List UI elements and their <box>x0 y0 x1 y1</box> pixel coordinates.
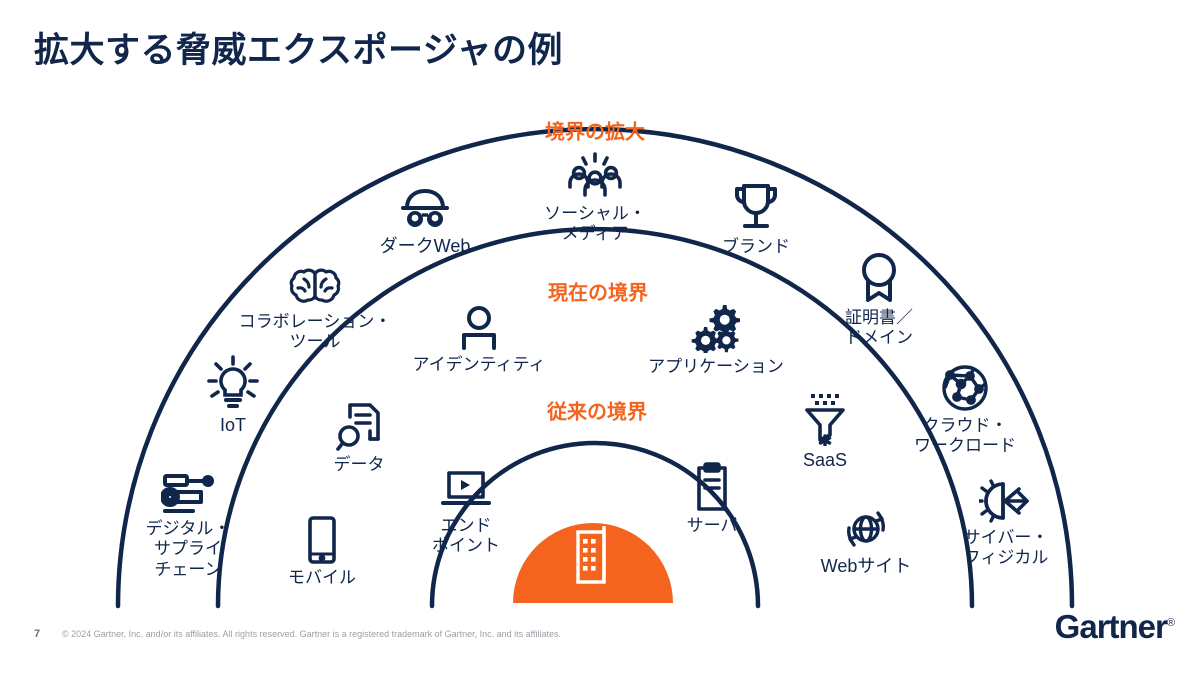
node-collaboration-tools[interactable]: コラボレーション・ ツール <box>230 268 400 353</box>
ring-label-inner: 従来の境界 <box>547 396 647 425</box>
node-dark-web[interactable]: ダークWeb <box>340 188 510 258</box>
node-saas[interactable]: SaaS <box>740 392 910 472</box>
person-icon <box>394 305 564 351</box>
badge-icon <box>794 252 964 304</box>
node-label: アプリケーション <box>631 357 801 377</box>
social-icon <box>510 152 680 200</box>
node-identity[interactable]: アイデンティティ <box>394 305 564 375</box>
trophy-icon <box>671 183 841 233</box>
node-label: ソーシャル・ メディア <box>510 204 680 245</box>
node-endpoint[interactable]: エンド ポイント <box>381 470 551 557</box>
node-label: コラボレーション・ ツール <box>230 312 400 353</box>
node-certificate-domain[interactable]: 証明書／ ドメイン <box>794 252 964 349</box>
spy-icon <box>340 188 510 232</box>
page-number: 7 <box>34 628 40 640</box>
clipboard-icon <box>627 462 797 512</box>
ring-label-outer: 境界の拡大 <box>545 116 645 145</box>
core-building <box>568 516 618 584</box>
node-label: モバイル <box>237 568 407 588</box>
node-label: 証明書／ ドメイン <box>794 308 964 349</box>
doc-search-icon <box>274 403 444 451</box>
brain-icon <box>230 268 400 308</box>
node-social-media[interactable]: ソーシャル・ メディア <box>510 152 680 245</box>
node-label: エンド ポイント <box>381 516 551 557</box>
node-label: ダークWeb <box>340 236 510 258</box>
funnel-icon <box>740 392 910 446</box>
copyright-text: © 2024 Gartner, Inc. and/or its affiliat… <box>62 629 561 639</box>
node-brand[interactable]: ブランド <box>671 183 841 257</box>
node-application[interactable]: アプリケーション <box>631 303 801 377</box>
node-data[interactable]: データ <box>274 403 444 475</box>
gartner-logo: Gartner® <box>1055 608 1174 646</box>
slide-canvas: 拡大する脅威エクスポージャの例 境界の拡大 現在の境界 従来の境界 ダークWeb <box>0 0 1200 673</box>
logo-text: Gartner <box>1055 608 1167 645</box>
website-icon <box>781 506 951 552</box>
node-server[interactable]: サーバ <box>627 462 797 536</box>
building-icon <box>568 571 618 588</box>
supply-icon <box>103 473 273 515</box>
laptop-icon <box>381 470 551 512</box>
node-label: Webサイト <box>781 556 951 578</box>
ring-label-middle: 現在の境界 <box>548 277 648 306</box>
node-label: アイデンティティ <box>394 355 564 375</box>
registered-mark: ® <box>1167 617 1174 629</box>
gears-icon <box>631 303 801 353</box>
node-label: サーバ <box>627 516 797 536</box>
node-website[interactable]: Webサイト <box>781 506 951 578</box>
